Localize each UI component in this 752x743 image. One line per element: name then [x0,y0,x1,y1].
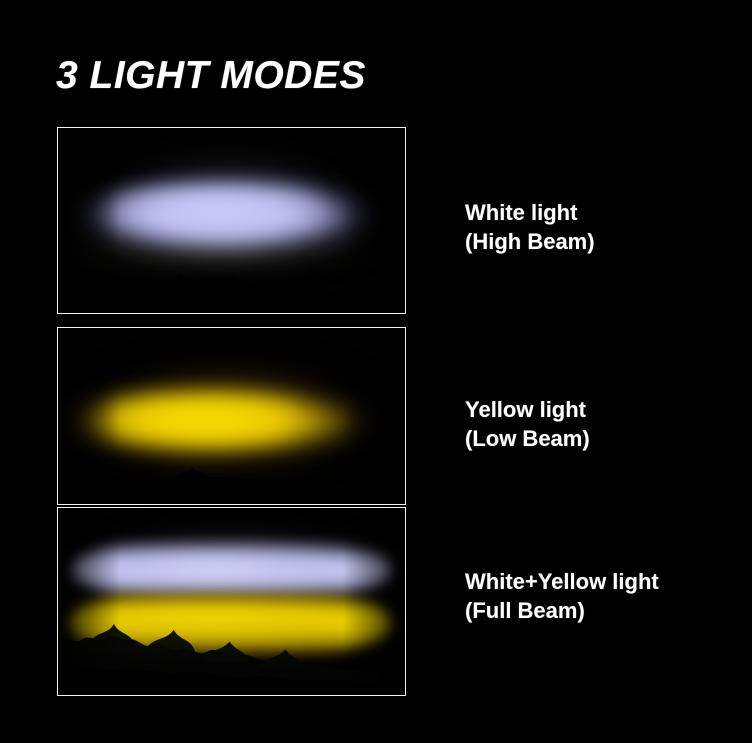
beam-photo-inner-full-beam [58,508,405,695]
beam-photo-inner-high-beam [58,128,405,313]
beam-photo-high-beam [57,127,406,314]
foliage-silhouette-icon [58,616,377,695]
mode-label-line2: (Full Beam) [465,596,659,625]
beam-yellow-hotspot-icon [93,602,336,639]
mode-label-line2: (High Beam) [465,227,595,256]
mode-label-low-beam: Yellow light (Low Beam) [465,395,590,453]
beam-white-band-icon [68,542,394,598]
beam-photo-inner-low-beam [58,328,405,504]
page-title: 3 LIGHT MODES [56,56,366,95]
beam-photo-low-beam [57,327,406,505]
beam-upper-haze-icon [86,339,371,395]
beam-halo-icon [58,356,405,486]
panel-vignette [58,128,405,313]
mode-label-line2: (Low Beam) [465,424,590,453]
mode-label-high-beam: White light (High Beam) [465,198,595,256]
mode-label-full-beam: White+Yellow light (Full Beam) [465,567,659,625]
beam-ground-glow-icon [58,631,405,680]
beam-upper-haze-icon [93,135,364,183]
panel-vignette [58,328,405,504]
beam-yellow-band-icon [65,592,395,654]
beam-hotspot-icon [100,398,301,440]
light-modes-infographic: 3 LIGHT MODES [0,0,752,743]
foliage-silhouette-icon [65,250,336,313]
panel-vignette [58,508,405,695]
beam-photo-full-beam [57,507,406,696]
beam-halo-icon [58,154,405,280]
mode-label-line1: White light [465,200,577,225]
mode-label-line1: White+Yellow light [465,569,659,594]
beam-core-icon [72,182,384,249]
beam-upper-arc-icon [72,512,391,561]
foliage-silhouette-icon [72,448,336,504]
beam-white-hotspot-icon [93,549,343,586]
beam-core-icon [65,391,384,451]
beam-ground-glow-icon [65,232,384,273]
beam-hotspot-icon [110,189,325,237]
mode-label-line1: Yellow light [465,397,586,422]
